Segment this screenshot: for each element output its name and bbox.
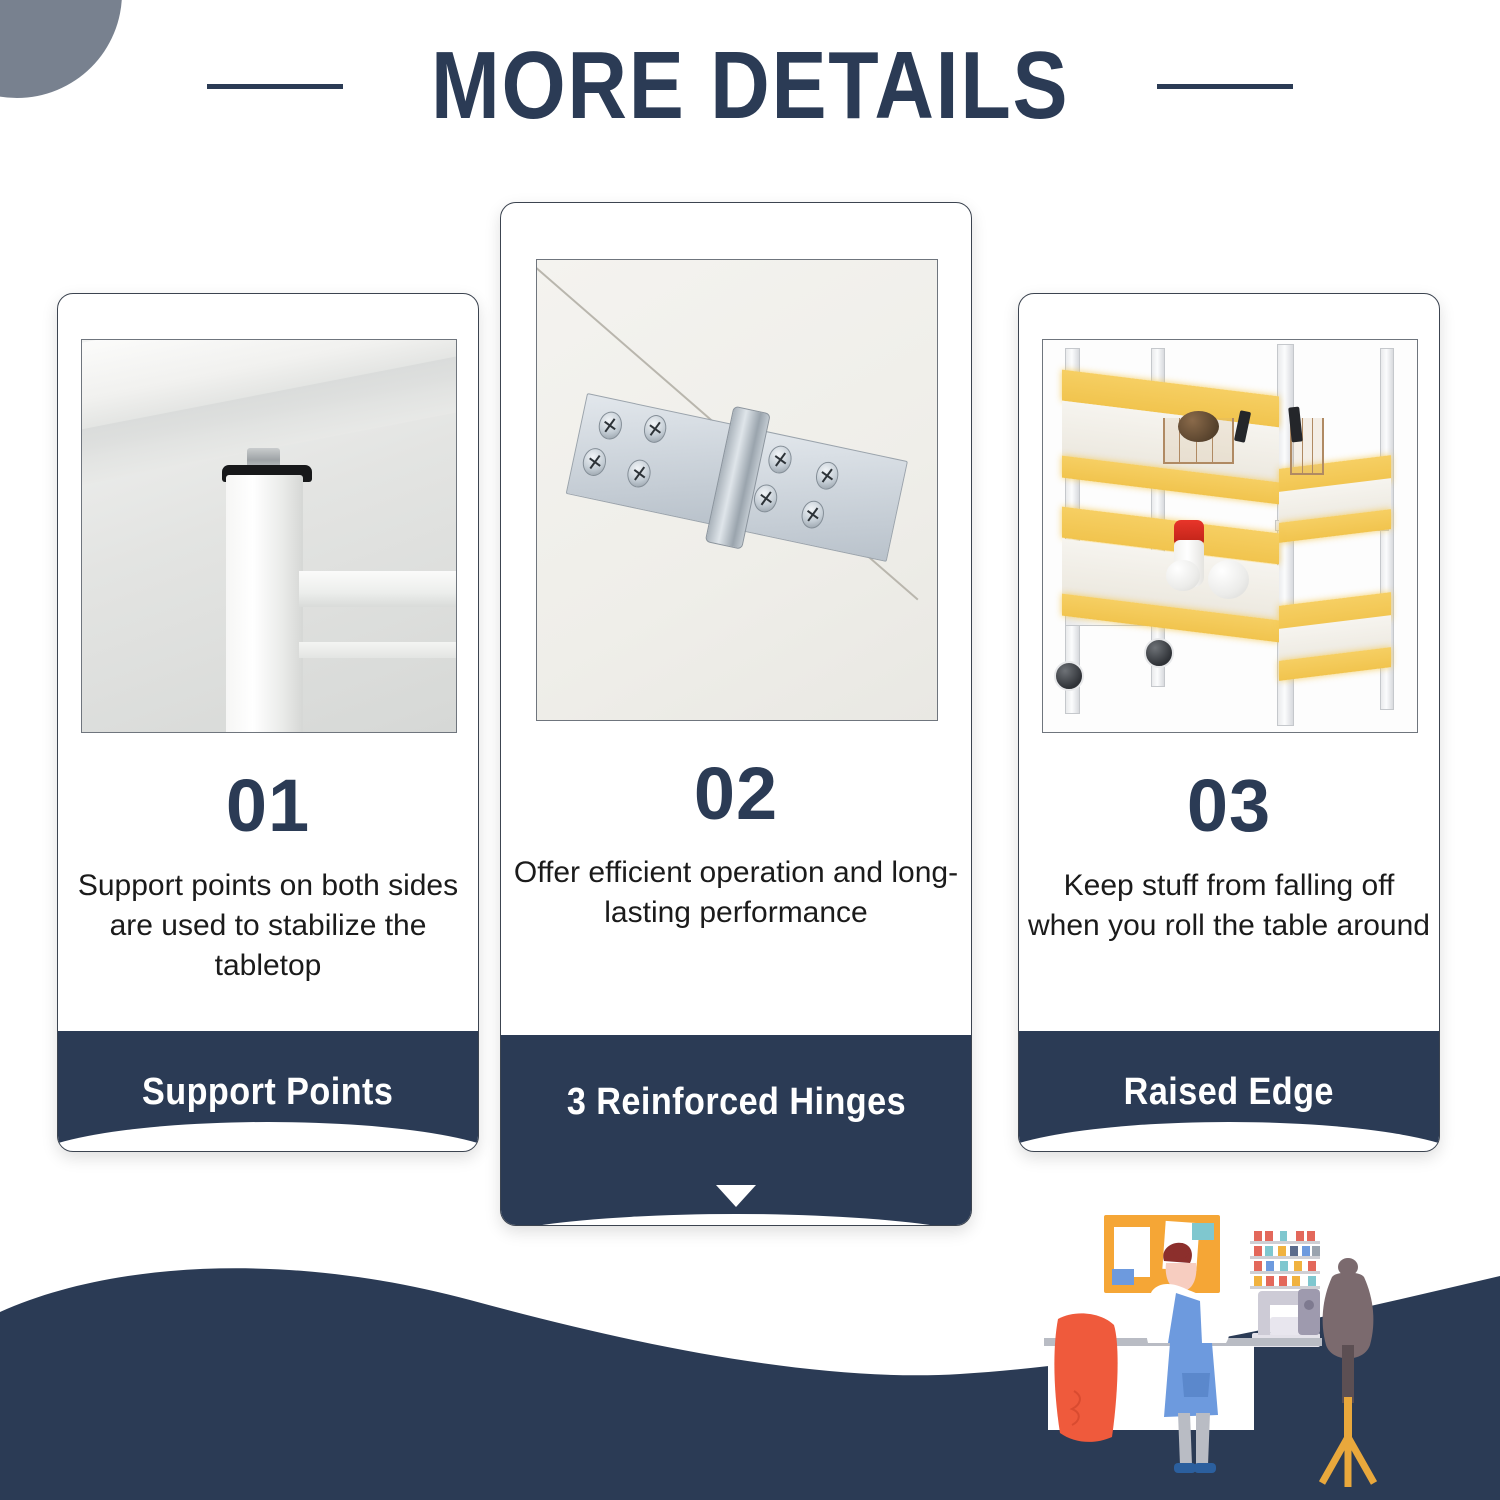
card-description-03: Keep stuff from falling off when you rol… <box>1027 866 1431 946</box>
infographic-page: MORE DETAILS 01 Support points on both s… <box>0 0 1500 1500</box>
chevron-down-icon[interactable] <box>716 1185 756 1207</box>
card-reinforced-hinges[interactable]: 02 Offer efficient operation and long-la… <box>500 202 972 1226</box>
card-raised-edge[interactable]: 03 Keep stuff from falling off when you … <box>1018 293 1440 1152</box>
band-arch-mask <box>57 1122 479 1152</box>
card-photo-support-points <box>81 339 457 733</box>
card-number-03: 03 <box>1019 769 1439 843</box>
card-description-01: Support points on both sides are used to… <box>66 866 470 986</box>
card-description-02: Offer efficient operation and long-lasti… <box>509 853 963 933</box>
card-number-01: 01 <box>58 769 478 843</box>
band-arch-mask <box>500 1214 972 1226</box>
sewing-workshop-illustration <box>1040 1205 1470 1500</box>
card-photo-reinforced-hinges <box>536 259 938 721</box>
card-number-02: 02 <box>501 757 971 831</box>
card-band-01: Support Points <box>58 1031 478 1152</box>
band-arch-mask <box>1018 1122 1440 1152</box>
card-band-label-03: Raised Edge <box>1124 1073 1334 1111</box>
card-support-points[interactable]: 01 Support points on both sides are used… <box>57 293 479 1152</box>
card-photo-raised-edge <box>1042 339 1418 733</box>
card-band-03: Raised Edge <box>1019 1031 1439 1152</box>
card-band-label-02: 3 Reinforced Hinges <box>566 1083 905 1121</box>
card-band-label-01: Support Points <box>142 1073 393 1111</box>
